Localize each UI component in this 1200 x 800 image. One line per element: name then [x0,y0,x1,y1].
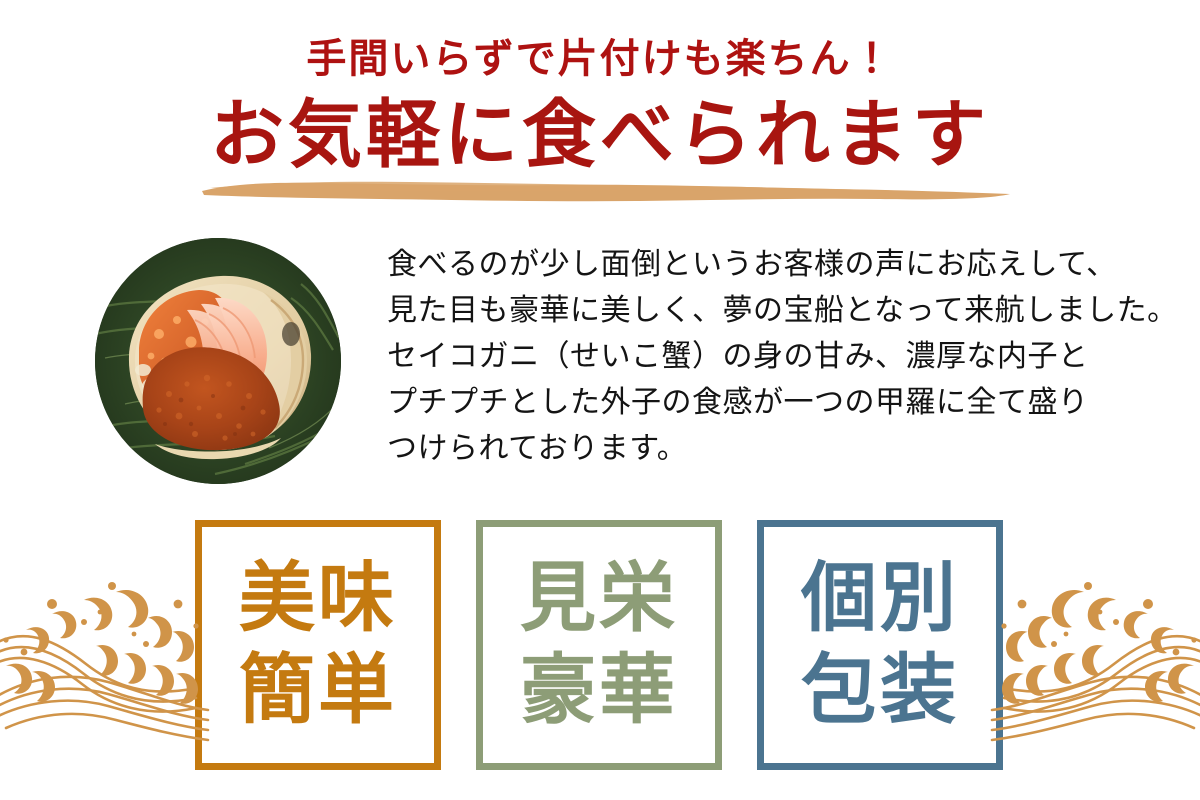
headline-block: 手間いらずで片付けも楽ちん！ お気軽に食べられます [0,0,1200,177]
promo-page: 手間いらずで片付けも楽ちん！ お気軽に食べられます [0,0,1200,800]
feature-3-line-2: 包装 [801,645,959,737]
feature-2-line-1: 見栄 [520,553,678,645]
feature-box-row: 美味 簡単 見栄 豪華 個別 包装 [0,520,1200,772]
feature-box-gorgeous-look: 見栄 豪華 [476,520,722,770]
headline-subtitle: 手間いらずで片付けも楽ちん！ [0,0,1200,80]
seiko-crab-shell-photo [95,238,341,484]
feature-3-line-1: 個別 [801,553,959,645]
intro-section: 食べるのが少し面倒というお客様の声にお応えして、 見た目も豪華に美しく、夢の宝船… [0,230,1200,500]
intro-paragraph: 食べるのが少し面倒というお客様の声にお応えして、 見た目も豪華に美しく、夢の宝船… [387,242,1117,472]
intro-line-2: 見た目も豪華に美しく、夢の宝船となって来航しました。 [387,288,1117,334]
feature-1-line-2: 簡単 [239,645,397,737]
feature-box-individual-packaging: 個別 包装 [757,520,1003,770]
intro-line-1: 食べるのが少し面倒というお客様の声にお応えして、 [387,242,1117,288]
page-title: お気軽に食べられます [0,80,1200,177]
brush-stroke-underline-icon [200,178,1012,204]
feature-box-delicious-easy: 美味 簡単 [195,520,441,770]
intro-line-3: セイコガニ（せいこ蟹）の身の甘み、濃厚な内子と [387,334,1117,380]
intro-line-5: つけられております。 [387,426,1117,472]
intro-line-4: プチプチとした外子の食感が一つの甲羅に全て盛り [387,380,1117,426]
feature-2-line-2: 豪華 [520,645,678,737]
feature-1-line-1: 美味 [239,553,397,645]
